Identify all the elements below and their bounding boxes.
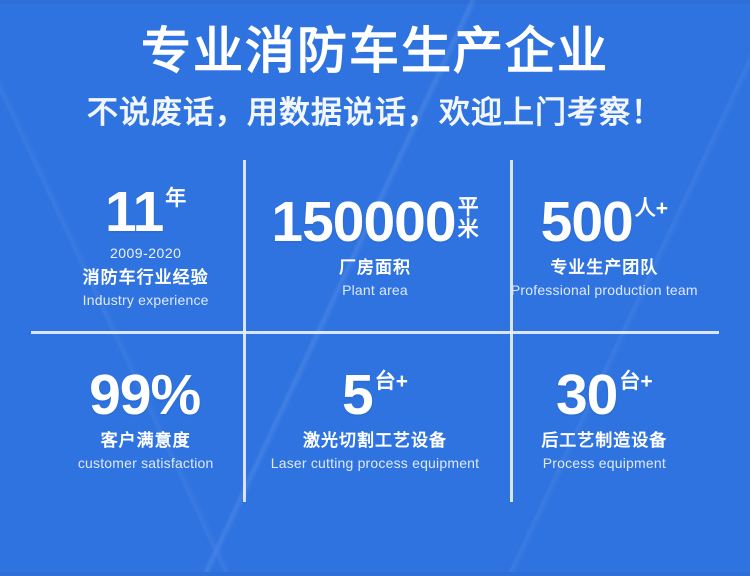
stat-label-en: customer satisfaction [78, 454, 214, 473]
stat-label-cn: 后工艺制造设备 [541, 429, 667, 452]
stat-label-en: Laser cutting process equipment [271, 454, 480, 473]
stat-cell-plant-area: 150000 平 米 厂房面积 Plant area [260, 160, 489, 333]
stat-unit: 人+ [633, 192, 668, 220]
stats-section: 11 年 2009-2020 消防车行业经验 Industry experien… [31, 160, 719, 505]
stat-value: 30 [556, 365, 617, 425]
stat-value-group: 30 台+ [556, 365, 653, 425]
stat-value-group: 99% [89, 365, 202, 425]
stat-value: 150000 [271, 192, 455, 252]
stat-cell-process-equipment: 30 台+ 后工艺制造设备 Process equipment [490, 333, 719, 506]
stat-value: 5 [342, 365, 373, 425]
stat-cell-industry-experience: 11 年 2009-2020 消防车行业经验 Industry experien… [31, 160, 260, 333]
page-subtitle: 不说废话，用数据说话，欢迎上门考察！ [0, 94, 750, 132]
stat-unit: 平 米 [456, 192, 479, 241]
stat-unit: 年 [163, 182, 186, 210]
stat-label-cn: 激光切割工艺设备 [303, 429, 447, 452]
stat-unit: 台+ [617, 365, 652, 393]
stat-cell-laser-cutting-equipment: 5 台+ 激光切割工艺设备 Laser cutting process equi… [260, 333, 489, 506]
stat-value: 99% [89, 365, 200, 425]
stat-label-en: Industry experience [83, 291, 209, 310]
stat-unit-char-1: 平 [458, 197, 479, 219]
stat-range: 2009-2020 [110, 244, 181, 262]
stats-grid: 11 年 2009-2020 消防车行业经验 Industry experien… [31, 160, 719, 505]
stat-label-en: Professional production team [511, 281, 698, 300]
stat-label-cn: 客户满意度 [101, 429, 191, 452]
stat-label-en: Plant area [342, 281, 408, 300]
page-title: 专业消防车生产企业 [0, 22, 750, 80]
stat-unit-char-2: 米 [458, 219, 479, 241]
stat-unit [200, 365, 202, 370]
promo-banner: 专业消防车生产企业 不说废话，用数据说话，欢迎上门考察！ 11 年 2009-2… [0, 0, 750, 576]
stat-value-group: 500 人+ [541, 192, 668, 252]
stat-value-group: 150000 平 米 [271, 192, 478, 252]
stat-label-cn: 厂房面积 [339, 256, 411, 279]
stat-unit: 台+ [373, 365, 408, 393]
stat-label-cn: 消防车行业经验 [83, 266, 209, 289]
stat-cell-customer-satisfaction: 99% 客户满意度 customer satisfaction [31, 333, 260, 506]
stat-label-en: Process equipment [543, 454, 666, 473]
stat-cell-production-team: 500 人+ 专业生产团队 Professional production te… [490, 160, 719, 333]
bottom-edge-strip [0, 572, 750, 576]
stat-value: 11 [105, 182, 163, 242]
stat-value: 500 [541, 192, 633, 252]
stat-value-group: 5 台+ [342, 365, 408, 425]
banner-header: 专业消防车生产企业 不说废话，用数据说话，欢迎上门考察！ [0, 0, 750, 132]
stat-label-cn: 专业生产团队 [550, 256, 658, 279]
stat-value-group: 11 年 [105, 182, 186, 242]
